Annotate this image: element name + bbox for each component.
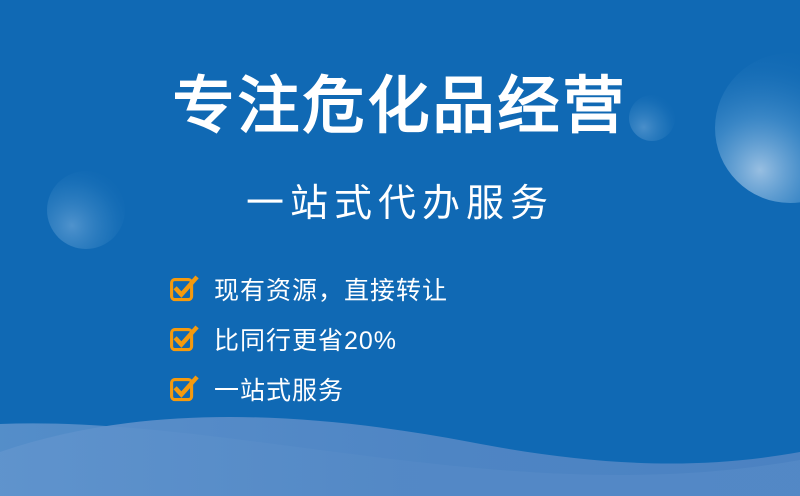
page-title: 专注危化品经营	[0, 76, 800, 138]
promo-banner: 专注危化品经营 一站式代办服务 现有资源，直接转让	[0, 0, 800, 496]
list-item: 一站式服务	[170, 376, 448, 406]
list-item: 现有资源，直接转让	[170, 276, 448, 306]
list-item: 比同行更省20%	[170, 326, 448, 356]
banner-content: 专注危化品经营 一站式代办服务 现有资源，直接转让	[0, 0, 800, 496]
checkbox-checked-icon	[170, 378, 196, 404]
page-subtitle: 一站式代办服务	[0, 185, 800, 223]
list-item-label: 现有资源，直接转让	[214, 276, 448, 306]
list-item-label: 一站式服务	[214, 376, 344, 406]
list-item-label: 比同行更省20%	[214, 326, 397, 356]
checkbox-checked-icon	[170, 278, 196, 304]
feature-list: 现有资源，直接转让 比同行更省20% 一站式	[170, 276, 448, 406]
checkbox-checked-icon	[170, 328, 196, 354]
